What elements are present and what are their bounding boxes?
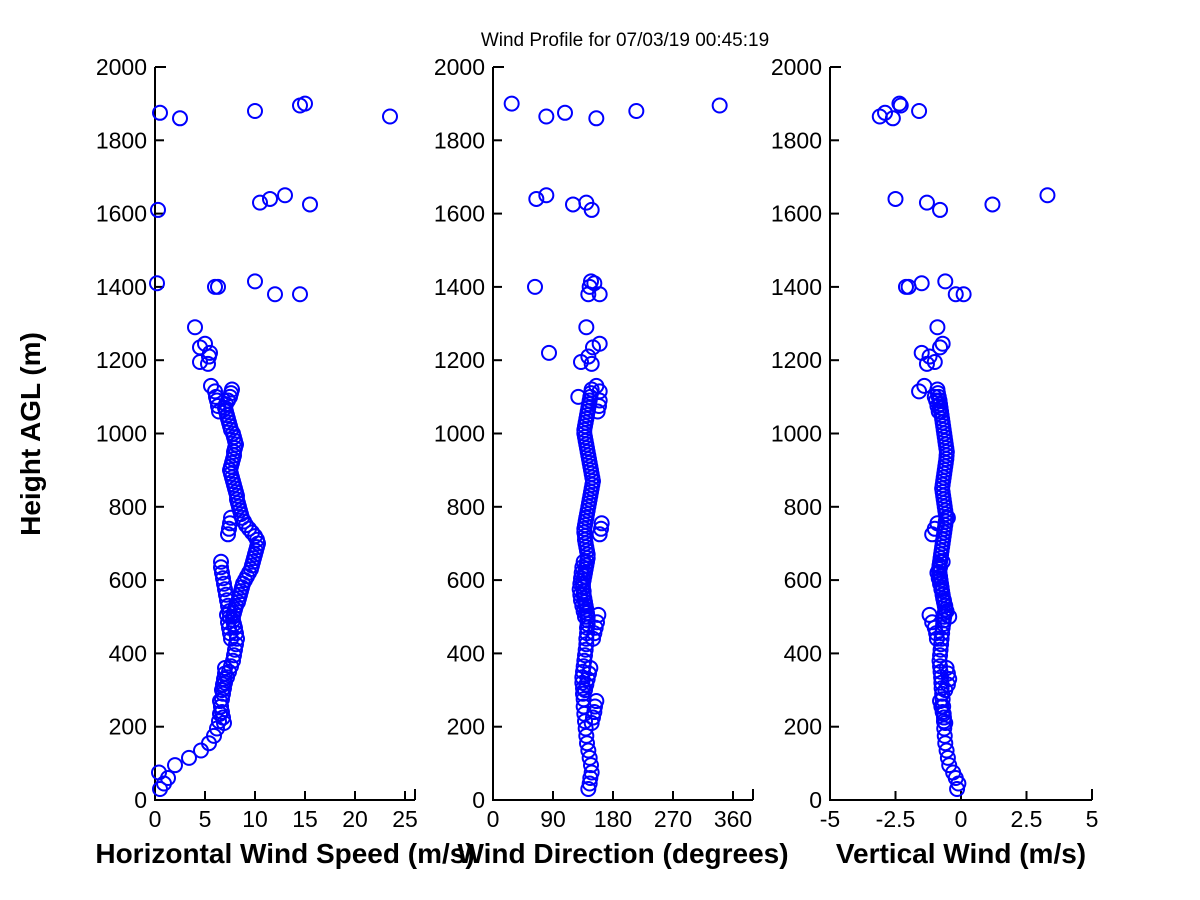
y-tick-label: 1800 xyxy=(96,127,147,153)
x-tick-label: 5 xyxy=(1086,806,1099,832)
y-tick-label: 600 xyxy=(784,567,822,593)
y-tick-label: 2000 xyxy=(434,54,485,80)
x-axis-label: Horizontal Wind Speed (m/s) xyxy=(95,838,474,869)
y-tick-label: 400 xyxy=(784,640,822,666)
x-tick-label: 90 xyxy=(540,806,566,832)
x-tick-label: 15 xyxy=(292,806,318,832)
y-tick-label: 0 xyxy=(134,787,147,813)
y-tick-label: 1400 xyxy=(771,274,822,300)
x-tick-label: 2.5 xyxy=(1011,806,1043,832)
x-tick-label: 10 xyxy=(242,806,268,832)
y-tick-label: 1800 xyxy=(771,127,822,153)
y-tick-label: 1200 xyxy=(771,347,822,373)
y-tick-label: 1600 xyxy=(434,201,485,227)
x-axis-label: Vertical Wind (m/s) xyxy=(836,838,1086,869)
y-tick-label: 800 xyxy=(447,494,485,520)
y-tick-label: 0 xyxy=(472,787,485,813)
x-tick-label: 0 xyxy=(149,806,162,832)
y-tick-label: 1400 xyxy=(96,274,147,300)
y-tick-label: 1400 xyxy=(434,274,485,300)
x-tick-label: -5 xyxy=(820,806,840,832)
y-tick-label: 1200 xyxy=(96,347,147,373)
x-tick-label: -2.5 xyxy=(876,806,916,832)
y-tick-label: 1600 xyxy=(771,201,822,227)
figure-background xyxy=(0,0,1200,900)
x-tick-label: 25 xyxy=(392,806,418,832)
wind-profile-figure: Wind Profile for 07/03/19 00:45:19 Heigh… xyxy=(0,0,1200,900)
y-tick-label: 1600 xyxy=(96,201,147,227)
y-tick-label: 600 xyxy=(109,567,147,593)
y-tick-label: 1000 xyxy=(771,421,822,447)
x-tick-label: 0 xyxy=(955,806,968,832)
y-tick-label: 400 xyxy=(447,640,485,666)
y-tick-label: 200 xyxy=(109,714,147,740)
x-tick-label: 360 xyxy=(714,806,752,832)
y-tick-label: 1000 xyxy=(434,421,485,447)
x-tick-label: 20 xyxy=(342,806,368,832)
y-tick-label: 600 xyxy=(447,567,485,593)
y-tick-label: 200 xyxy=(784,714,822,740)
y-axis-label: Height AGL (m) xyxy=(15,332,46,536)
x-axis-label: Wind Direction (degrees) xyxy=(457,838,788,869)
y-tick-label: 800 xyxy=(784,494,822,520)
x-tick-label: 270 xyxy=(654,806,692,832)
x-tick-label: 5 xyxy=(199,806,212,832)
y-tick-label: 400 xyxy=(109,640,147,666)
y-tick-label: 800 xyxy=(109,494,147,520)
y-tick-label: 1000 xyxy=(96,421,147,447)
wind-profile-plot: Wind Profile for 07/03/19 00:45:19 Heigh… xyxy=(0,0,1200,900)
figure-title: Wind Profile for 07/03/19 00:45:19 xyxy=(481,30,769,51)
y-tick-label: 1200 xyxy=(434,347,485,373)
y-tick-label: 1800 xyxy=(434,127,485,153)
y-tick-label: 200 xyxy=(447,714,485,740)
x-tick-label: 0 xyxy=(487,806,500,832)
y-tick-label: 2000 xyxy=(96,54,147,80)
y-tick-label: 2000 xyxy=(771,54,822,80)
x-tick-label: 180 xyxy=(594,806,632,832)
